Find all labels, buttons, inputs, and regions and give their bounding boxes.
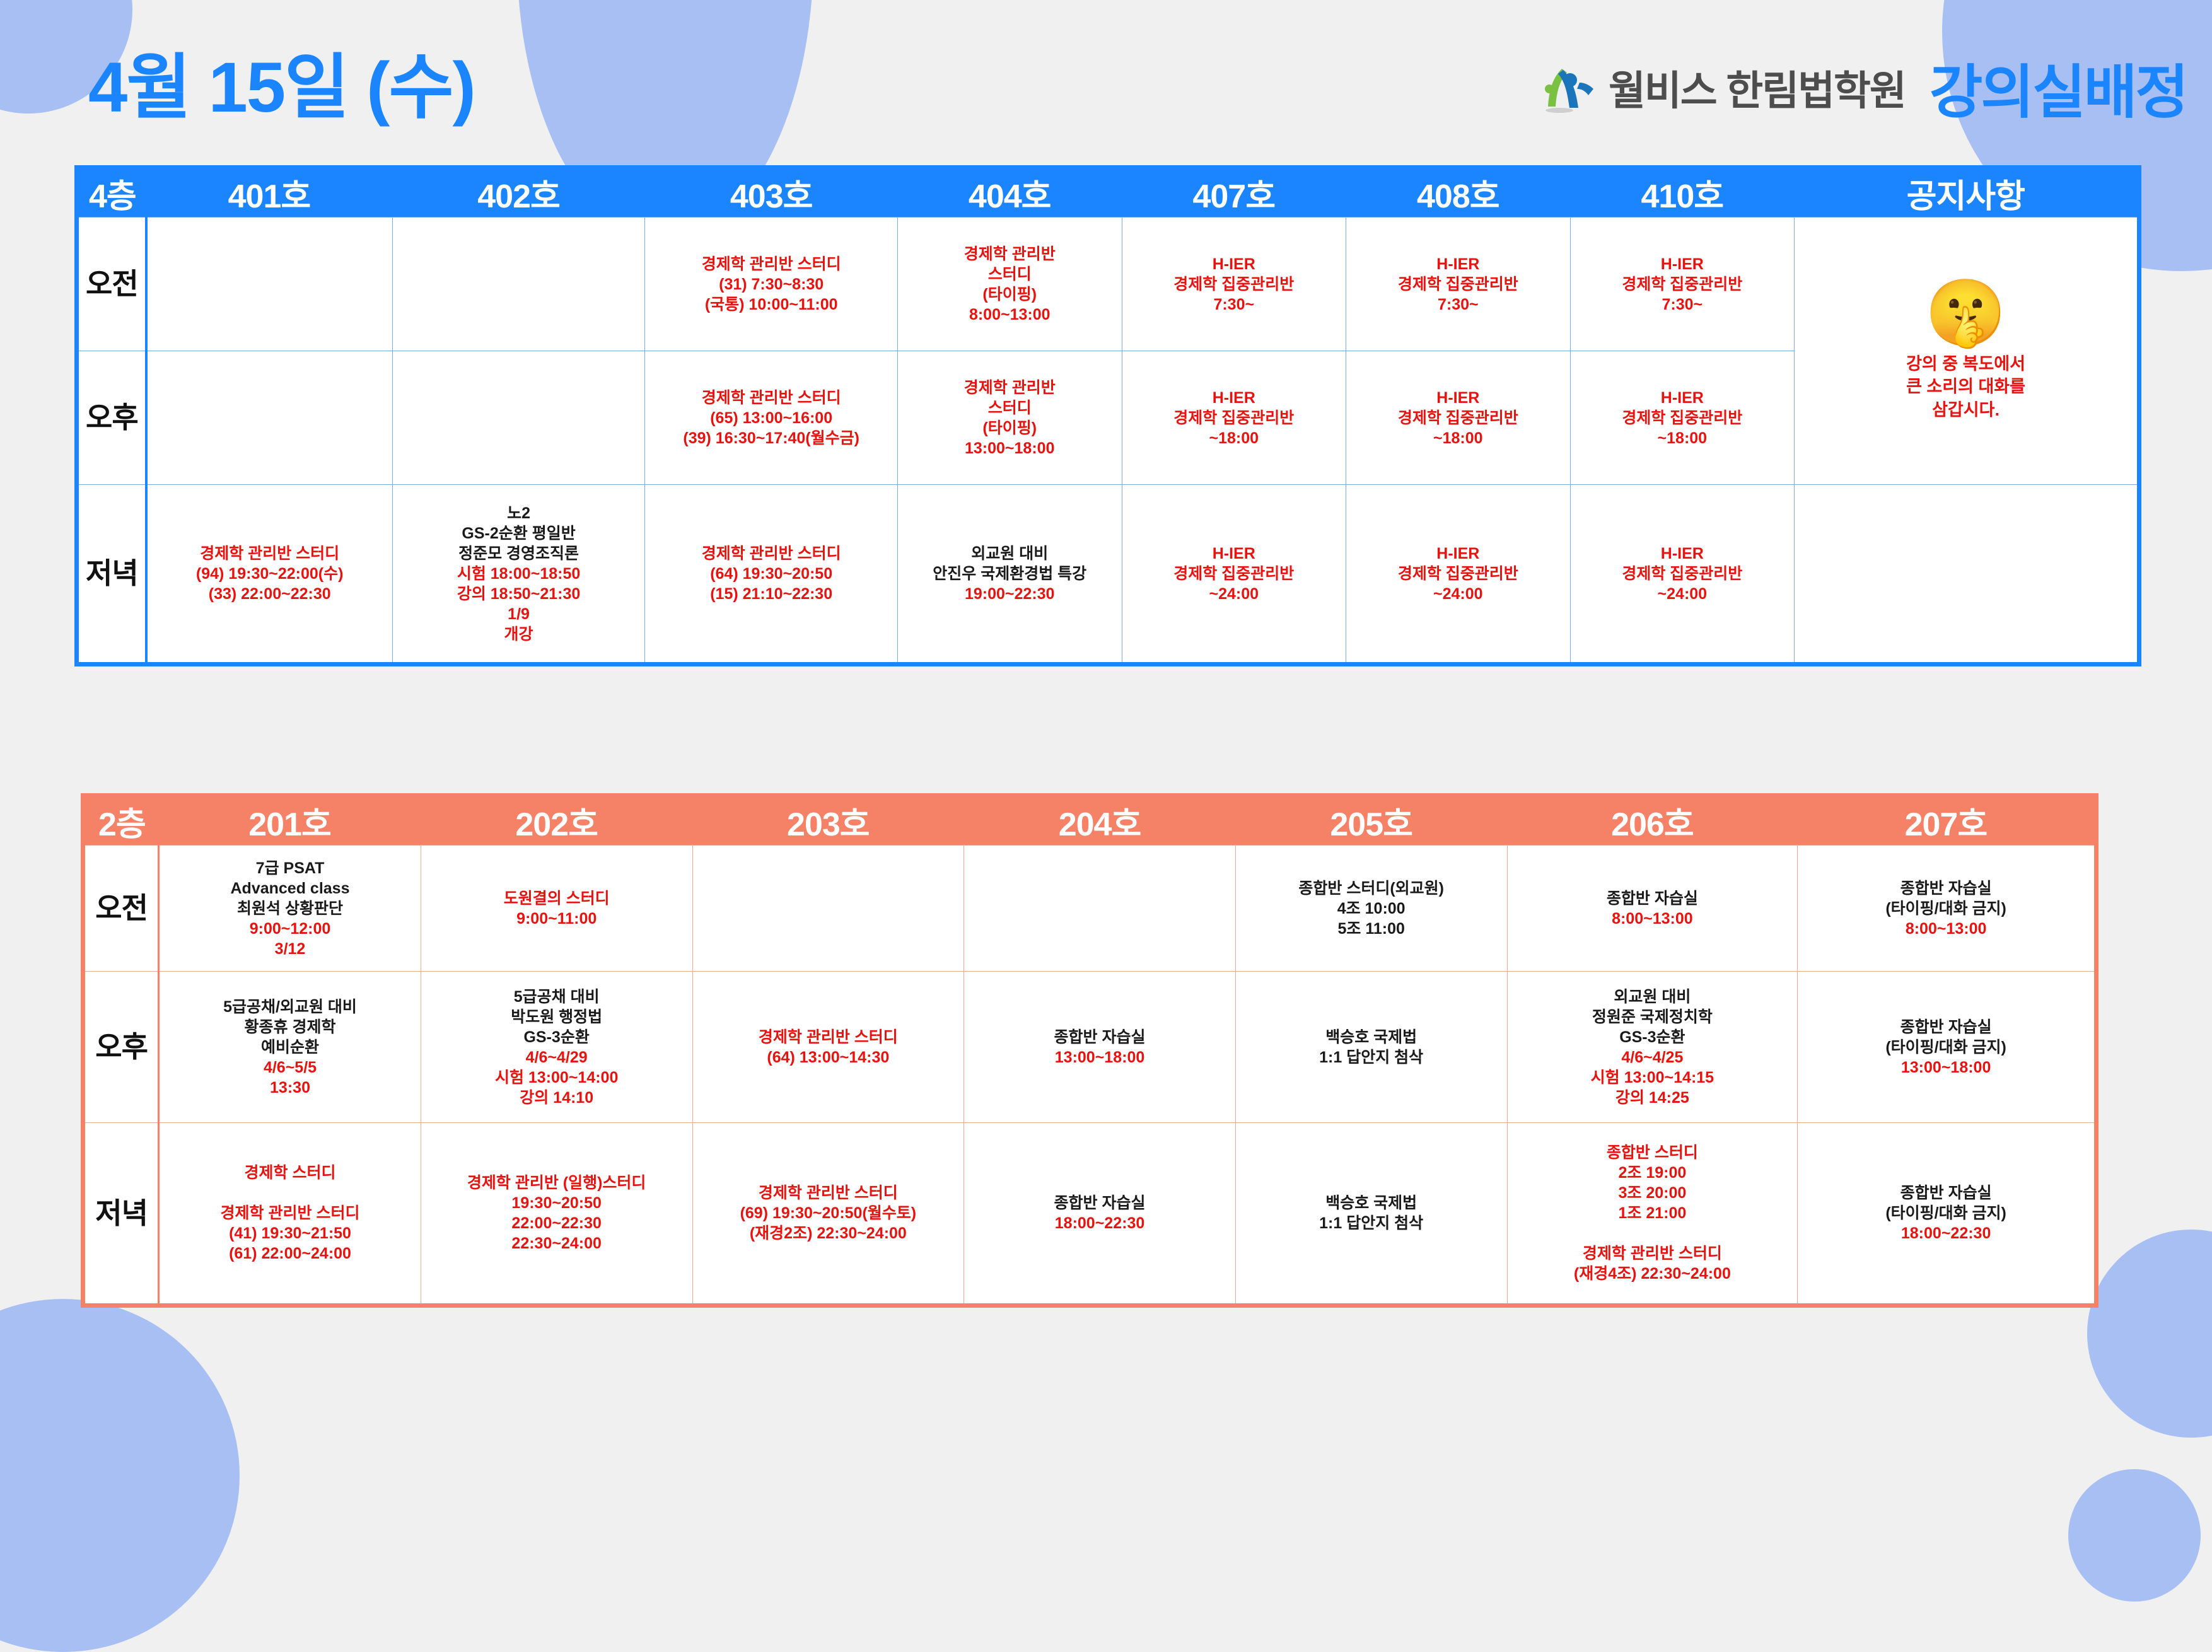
schedule-line: 4조 10:00: [1238, 899, 1505, 919]
cell-2f-r1-202호: 5급공채 대비박도원 행정법GS-3순환4/6~4/29시험 13:00~14:…: [421, 972, 692, 1123]
cell-2f-r1-203호: 경제학 관리반 스터디(64) 13:00~14:30: [692, 972, 964, 1123]
cell-4f-r0-408호: H-IER경제학 집중관리반7:30~: [1346, 218, 1571, 351]
schedule-line: 8:00~13:00: [1510, 909, 1795, 929]
schedule-line: (재경2조) 22:30~24:00: [696, 1223, 962, 1243]
schedule-line: H-IER: [1349, 388, 1568, 408]
schedule-line: (타이핑): [900, 284, 1119, 305]
cell-2f-r2-204호: 종합반 자습실18:00~22:30: [964, 1123, 1236, 1306]
schedule-line: (64) 19:30~20:50: [648, 564, 895, 584]
schedule-line: 2조 19:00: [1510, 1163, 1795, 1183]
schedule-line: 시험 13:00~14:15: [1510, 1067, 1795, 1088]
time-label-morning: 오전: [77, 218, 146, 351]
schedule-line: 강의 14:25: [1510, 1088, 1795, 1108]
schedule-line: 종합반 자습실: [967, 1193, 1233, 1213]
time-label-evening: 저녁: [77, 485, 146, 665]
schedule-line: 경제학 관리반: [900, 378, 1119, 398]
schedule-line: 18:00~22:30: [967, 1213, 1233, 1233]
brand-block: 월비스 한림법학원 강의실배정: [1540, 45, 2187, 129]
schedule-line: 1:1 답안지 첨삭: [1238, 1213, 1505, 1233]
schedule-line: H-IER: [1349, 544, 1568, 564]
cell-2f-r0-207호: 종합반 자습실(타이핑/대화 금지)8:00~13:00: [1798, 846, 2097, 972]
column-header-410: 410호: [1570, 168, 1795, 218]
time-label-morning: 오전: [83, 846, 159, 972]
floor-label-2f: 2층: [83, 796, 159, 846]
cell-2f-r2-203호: 경제학 관리반 스터디(69) 19:30~20:50(월수토)(재경2조) 2…: [692, 1123, 964, 1306]
table-row: 오후5급공채/외교원 대비황종휴 경제학예비순환4/6~5/513:305급공채…: [83, 972, 2097, 1123]
schedule-line: (41) 19:30~21:50: [162, 1223, 418, 1243]
schedule-line: H-IER: [1125, 388, 1344, 408]
schedule-line: 18:00~22:30: [1800, 1223, 2092, 1243]
cell-2f-r1-201호: 5급공채/외교원 대비황종휴 경제학예비순환4/6~5/513:30: [159, 972, 421, 1123]
column-header-401: 401호: [146, 168, 393, 218]
schedule-line: 8:00~13:00: [900, 305, 1119, 325]
notice-line: 강의 중 복도에서: [1906, 352, 2025, 375]
cell-2f-r0-202호: 도원결의 스터디9:00~11:00: [421, 846, 692, 972]
schedule-line: H-IER: [1573, 544, 1792, 564]
cell-4f-r1-401호-empty: [146, 351, 393, 485]
table-row: 저녁경제학 관리반 스터디(94) 19:30~22:00(수)(33) 22:…: [77, 485, 2139, 665]
schedule-line: 박도원 행정법: [424, 1007, 690, 1027]
cell-2f-r2-206호: 종합반 스터디2조 19:003조 20:001조 21:00 경제학 관리반 …: [1507, 1123, 1798, 1306]
cell-2f-r2-202호: 경제학 관리반 (일행)스터디19:30~20:5022:00~22:3022:…: [421, 1123, 692, 1306]
wellbis-people-logo-icon: [1540, 61, 1598, 114]
schedule-line: 정준모 경영조직론: [395, 544, 643, 564]
cell-2f-r2-201호: 경제학 스터디 경제학 관리반 스터디(41) 19:30~21:50(61) …: [159, 1123, 421, 1306]
schedule-line: 스터디: [900, 398, 1119, 418]
schedule-line: 19:00~22:30: [900, 584, 1119, 604]
column-header-207: 207호: [1798, 796, 2097, 846]
schedule-line: 개강: [395, 624, 643, 644]
schedule-line: 경제학 관리반 스터디: [648, 254, 895, 274]
column-header-402: 402호: [392, 168, 645, 218]
schedule-line: 3조 20:00: [1510, 1183, 1795, 1203]
schedule-line: 5조 11:00: [1238, 919, 1505, 939]
schedule-line: 경제학 집중관리반: [1125, 564, 1344, 584]
time-label-afternoon: 오후: [77, 351, 146, 485]
schedule-line: 경제학 관리반 스터디: [696, 1183, 962, 1203]
cell-4f-r2-401호: 경제학 관리반 스터디(94) 19:30~22:00(수)(33) 22:00…: [146, 485, 393, 665]
schedule-line: (15) 21:10~22:30: [648, 584, 895, 604]
schedule-line: ~24:00: [1349, 584, 1568, 604]
schedule-line: 9:00~11:00: [424, 909, 690, 929]
schedule-line: (94) 19:30~22:00(수): [150, 564, 390, 584]
schedule-line: (61) 22:00~24:00: [162, 1243, 418, 1264]
schedule-line: 종합반 자습실: [1800, 878, 2092, 899]
schedule-line: 경제학 집중관리반: [1349, 564, 1568, 584]
table-header-row-floor4: 4층 401호 402호 403호 404호 407호 408호 410호 공지…: [77, 168, 2139, 218]
schedule-line: 13:00~18:00: [1800, 1057, 2092, 1078]
schedule-line: 22:30~24:00: [424, 1233, 690, 1254]
schedule-line: GS-2순환 평일반: [395, 523, 643, 544]
schedule-line: (69) 19:30~20:50(월수토): [696, 1203, 962, 1223]
schedule-line: 1:1 답안지 첨삭: [1238, 1047, 1505, 1067]
page-header: 4월 15일 (수) 월비스 한림법학원 강의실배정: [0, 0, 2212, 158]
schedule-line: (31) 7:30~8:30: [648, 274, 895, 294]
cell-4f-r0-403호: 경제학 관리반 스터디(31) 7:30~8:30(국통) 10:00~11:0…: [645, 218, 898, 351]
schedule-line: 22:00~22:30: [424, 1213, 690, 1233]
schedule-line: 종합반 스터디(외교원): [1238, 878, 1505, 899]
notice-line: 삼갑시다.: [1906, 398, 2025, 421]
cell-4f-r2-403호: 경제학 관리반 스터디(64) 19:30~20:50(15) 21:10~22…: [645, 485, 898, 665]
column-header-407: 407호: [1122, 168, 1346, 218]
schedule-line: 경제학 관리반 스터디: [648, 544, 895, 564]
schedule-line: 13:00~18:00: [900, 438, 1119, 458]
schedule-line: 종합반 자습실: [1510, 888, 1795, 909]
schedule-line: 7:30~: [1125, 294, 1344, 315]
schedule-line: 종합반 스터디: [1510, 1143, 1795, 1163]
schedule-line: 경제학 관리반 스터디: [648, 388, 895, 408]
schedule-line: H-IER: [1573, 254, 1792, 274]
schedule-line: (타이핑/대화 금지): [1800, 899, 2092, 919]
cell-4f-r0-402호-empty: [392, 218, 645, 351]
schedule-line: 5급공채/외교원 대비: [162, 997, 418, 1017]
schedule-line: 경제학 집중관리반: [1573, 564, 1792, 584]
schedule-line: 4/6~5/5: [162, 1057, 418, 1078]
brand-name: 월비스 한림법학원: [1609, 59, 1906, 117]
schedule-line: 외교원 대비: [900, 544, 1119, 564]
schedule-line: 3/12: [162, 939, 418, 959]
schedule-line: (국통) 10:00~11:00: [648, 294, 895, 315]
schedule-line: [162, 1183, 418, 1203]
schedule-line: H-IER: [1125, 254, 1344, 274]
schedule-line: ~18:00: [1349, 428, 1568, 448]
schedule-line: ~18:00: [1573, 428, 1792, 448]
schedule-line: 종합반 자습실: [1800, 1017, 2092, 1037]
cell-4f-r0-407호: H-IER경제학 집중관리반7:30~: [1122, 218, 1346, 351]
schedule-line: 시험 18:00~18:50: [395, 564, 643, 584]
cell-2f-r0-203호-empty: [692, 846, 964, 972]
column-header-403: 403호: [645, 168, 898, 218]
schedule-line: 경제학 집중관리반: [1125, 274, 1344, 294]
cell-2f-r0-205호: 종합반 스터디(외교원)4조 10:005조 11:00: [1235, 846, 1507, 972]
schedule-line: (타이핑): [900, 418, 1119, 438]
column-header-206: 206호: [1507, 796, 1798, 846]
column-header-203: 203호: [692, 796, 964, 846]
schedule-line: 1조 21:00: [1510, 1203, 1795, 1223]
schedule-line: 경제학 관리반 스터디: [1510, 1243, 1795, 1264]
schedule-line: 4/6~4/29: [424, 1047, 690, 1067]
cell-4f-r2-410호: H-IER경제학 집중관리반~24:00: [1570, 485, 1795, 665]
schedule-line: H-IER: [1125, 544, 1344, 564]
cell-4f-r1-403호: 경제학 관리반 스터디(65) 13:00~16:00(39) 16:30~17…: [645, 351, 898, 485]
schedule-line: 13:30: [162, 1078, 418, 1098]
schedule-line: 경제학 관리반 (일행)스터디: [424, 1173, 690, 1193]
cell-4f-r0-401호-empty: [146, 218, 393, 351]
column-header-408: 408호: [1346, 168, 1571, 218]
schedule-line: 강의 14:10: [424, 1088, 690, 1108]
schedule-line: [1510, 1223, 1795, 1243]
schedule-line: H-IER: [1349, 254, 1568, 274]
cell-4f-r1-410호: H-IER경제학 집중관리반~18:00: [1570, 351, 1795, 485]
schedule-line: (64) 13:00~14:30: [696, 1047, 962, 1067]
schedule-line: (재경4조) 22:30~24:00: [1510, 1264, 1795, 1284]
cell-4f-r2-402호: 노2GS-2순환 평일반정준모 경영조직론시험 18:00~18:50강의 18…: [392, 485, 645, 665]
cell-2f-r1-205호: 백승호 국제법1:1 답안지 첨삭: [1235, 972, 1507, 1123]
cell-2f-r0-206호: 종합반 자습실8:00~13:00: [1507, 846, 1798, 972]
cell-4f-r2-408호: H-IER경제학 집중관리반~24:00: [1346, 485, 1571, 665]
schedule-line: 경제학 관리반 스터디: [162, 1203, 418, 1223]
table-header-row-floor2: 2층 201호 202호 203호 204호 205호 206호 207호: [83, 796, 2097, 846]
schedule-line: 경제학 집중관리반: [1349, 274, 1568, 294]
schedule-line: 9:00~12:00: [162, 919, 418, 939]
schedule-line: 5급공채 대비: [424, 987, 690, 1007]
column-header-204: 204호: [964, 796, 1236, 846]
cell-4f-r0-410호: H-IER경제학 집중관리반7:30~: [1570, 218, 1795, 351]
time-label-afternoon: 오후: [83, 972, 159, 1123]
cell-4f-r2-404호: 외교원 대비안진우 국제환경법 특강19:00~22:30: [897, 485, 1122, 665]
table-row: 오전 경제학 관리반 스터디(31) 7:30~8:30(국통) 10:00~1…: [77, 218, 2139, 351]
page-title: 강의실배정: [1930, 45, 2187, 129]
notice-line: 큰 소리의 대화를: [1906, 375, 2025, 398]
column-header-202: 202호: [421, 796, 692, 846]
time-label-evening: 저녁: [83, 1123, 159, 1306]
schedule-line: 7:30~: [1349, 294, 1568, 315]
floor-label-4f: 4층: [77, 168, 146, 218]
schedule-line: 도원결의 스터디: [424, 888, 690, 909]
page-date-title: 4월 15일 (수): [88, 30, 475, 132]
notice-text: 강의 중 복도에서큰 소리의 대화를삼갑시다.: [1906, 352, 2025, 421]
cell-2f-r1-204호: 종합반 자습실13:00~18:00: [964, 972, 1236, 1123]
schedule-line: 황종휴 경제학: [162, 1017, 418, 1037]
schedule-line: Advanced class: [162, 878, 418, 899]
decorative-blob-bottom-right-small: [2068, 1469, 2201, 1602]
schedule-line: 강의 18:50~21:30: [395, 584, 643, 604]
column-header-201: 201호: [159, 796, 421, 846]
notice-cell: 🤫강의 중 복도에서큰 소리의 대화를삼갑시다.: [1795, 218, 2139, 485]
schedule-line: 경제학 관리반 스터디: [696, 1027, 962, 1047]
table-row: 저녁경제학 스터디 경제학 관리반 스터디(41) 19:30~21:50(61…: [83, 1123, 2097, 1306]
schedule-line: 백승호 국제법: [1238, 1027, 1505, 1047]
column-header-404: 404호: [897, 168, 1122, 218]
cell-2f-r1-206호: 외교원 대비정원준 국제정치학GS-3순환4/6~4/25시험 13:00~14…: [1507, 972, 1798, 1123]
schedule-line: 외교원 대비: [1510, 987, 1795, 1007]
schedule-line: 예비순환: [162, 1037, 418, 1057]
schedule-line: GS-3순환: [424, 1027, 690, 1047]
cell-4f-r2-407호: H-IER경제학 집중관리반~24:00: [1122, 485, 1346, 665]
column-header-205: 205호: [1235, 796, 1507, 846]
notice-cell-evening-empty: [1795, 485, 2139, 665]
decorative-blob-bottom-left: [0, 1299, 240, 1652]
decorative-blob-bottom-right: [2087, 1230, 2212, 1438]
schedule-line: H-IER: [1573, 388, 1792, 408]
schedule-line: ~18:00: [1125, 428, 1344, 448]
cell-2f-r1-207호: 종합반 자습실(타이핑/대화 금지)13:00~18:00: [1798, 972, 2097, 1123]
schedule-line: ~24:00: [1573, 584, 1792, 604]
schedule-line: 경제학 집중관리반: [1573, 274, 1792, 294]
cell-4f-r1-402호-empty: [392, 351, 645, 485]
schedule-line: 13:00~18:00: [967, 1047, 1233, 1067]
schedule-line: (타이핑/대화 금지): [1800, 1203, 2092, 1223]
schedule-line: (타이핑/대화 금지): [1800, 1037, 2092, 1057]
table-row: 오전7급 PSATAdvanced class최원석 상황판단9:00~12:0…: [83, 846, 2097, 972]
schedule-table-floor4: 4층 401호 402호 403호 404호 407호 408호 410호 공지…: [74, 165, 2141, 666]
schedule-table-floor2: 2층 201호 202호 203호 204호 205호 206호 207호 오전…: [81, 793, 2098, 1308]
shushing-face-icon: 🤫: [1925, 281, 2007, 346]
schedule-line: 4/6~4/25: [1510, 1047, 1795, 1067]
schedule-line: (33) 22:00~22:30: [150, 584, 390, 604]
schedule-line: 최원석 상황판단: [162, 899, 418, 919]
schedule-line: (39) 16:30~17:40(월수금): [648, 428, 895, 448]
schedule-line: 8:00~13:00: [1800, 919, 2092, 939]
schedule-line: 19:30~20:50: [424, 1193, 690, 1213]
schedule-line: 경제학 관리반: [900, 244, 1119, 264]
schedule-line: (65) 13:00~16:00: [648, 408, 895, 428]
cell-2f-r0-204호-empty: [964, 846, 1236, 972]
schedule-line: 스터디: [900, 264, 1119, 284]
schedule-line: 경제학 집중관리반: [1125, 408, 1344, 428]
schedule-line: 경제학 집중관리반: [1349, 408, 1568, 428]
schedule-line: 노2: [395, 503, 643, 523]
cell-4f-r1-408호: H-IER경제학 집중관리반~18:00: [1346, 351, 1571, 485]
schedule-line: 경제학 스터디: [162, 1163, 418, 1183]
cell-2f-r0-201호: 7급 PSATAdvanced class최원석 상황판단9:00~12:003…: [159, 846, 421, 972]
schedule-line: 정원준 국제정치학: [1510, 1007, 1795, 1027]
schedule-line: 안진우 국제환경법 특강: [900, 564, 1119, 584]
schedule-line: 종합반 자습실: [967, 1027, 1233, 1047]
schedule-line: 경제학 관리반 스터디: [150, 544, 390, 564]
schedule-line: GS-3순환: [1510, 1027, 1795, 1047]
schedule-line: 종합반 자습실: [1800, 1183, 2092, 1203]
column-header-notice: 공지사항: [1795, 168, 2139, 218]
schedule-line: 경제학 집중관리반: [1573, 408, 1792, 428]
cell-4f-r1-407호: H-IER경제학 집중관리반~18:00: [1122, 351, 1346, 485]
schedule-line: 시험 13:00~14:00: [424, 1067, 690, 1088]
cell-2f-r2-207호: 종합반 자습실(타이핑/대화 금지)18:00~22:30: [1798, 1123, 2097, 1306]
schedule-line: 백승호 국제법: [1238, 1193, 1505, 1213]
schedule-line: 7급 PSAT: [162, 858, 418, 878]
schedule-line: 1/9: [395, 604, 643, 624]
cell-2f-r2-205호: 백승호 국제법1:1 답안지 첨삭: [1235, 1123, 1507, 1306]
schedule-line: 7:30~: [1573, 294, 1792, 315]
schedule-line: ~24:00: [1125, 584, 1344, 604]
cell-4f-r1-404호: 경제학 관리반스터디(타이핑)13:00~18:00: [897, 351, 1122, 485]
cell-4f-r0-404호: 경제학 관리반스터디(타이핑)8:00~13:00: [897, 218, 1122, 351]
